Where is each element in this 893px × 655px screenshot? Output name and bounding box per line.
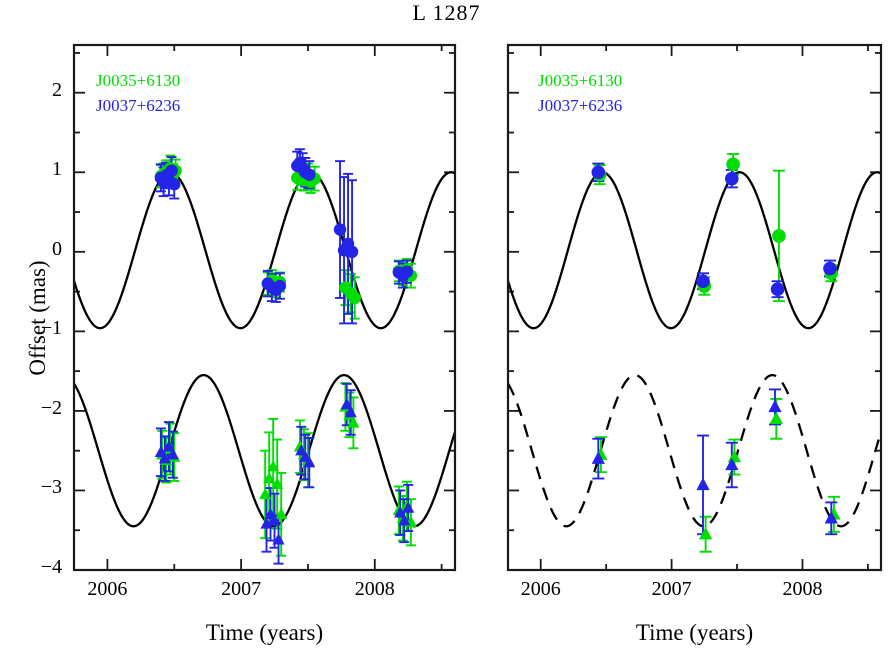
data-point-circle [726, 158, 740, 172]
data-point-circle [165, 164, 177, 176]
data-point-circle [696, 274, 710, 288]
x-tick-label: 2006 [67, 578, 147, 601]
y-tick-label: −4 [0, 556, 62, 579]
x-tick-label: 2007 [632, 578, 712, 601]
data-point-circle [274, 280, 286, 292]
upper-fit-curve-right-panel [508, 172, 881, 328]
data-point-circle [168, 178, 180, 190]
data-point-circle [303, 168, 315, 180]
plot-canvas [0, 0, 893, 655]
data-point-triangle [768, 400, 781, 412]
data-point-circle [725, 172, 739, 186]
data-point-circle [346, 246, 358, 258]
x-tick-label: 2007 [201, 578, 281, 601]
data-point-circle [349, 292, 361, 304]
y-tick-label: 2 [0, 79, 62, 102]
y-tick-label: −3 [0, 476, 62, 499]
x-tick-label: 2008 [762, 578, 842, 601]
data-point-triangle [699, 527, 712, 539]
data-point-circle [823, 262, 837, 276]
data-point-circle [592, 165, 606, 179]
y-tick-label: 0 [0, 238, 62, 261]
data-point-triangle [770, 412, 783, 424]
data-point-triangle [728, 450, 741, 462]
data-point-circle [334, 223, 346, 235]
lower-fit-curve-right-panel [508, 375, 881, 526]
x-tick-label: 2006 [501, 578, 581, 601]
figure-container: L 1287 Offset (mas) Time (years) Time (y… [0, 0, 893, 655]
data-point-circle [401, 266, 413, 278]
x-tick-label: 2008 [335, 578, 415, 601]
y-tick-label: 1 [0, 158, 62, 181]
y-tick-label: −2 [0, 397, 62, 420]
data-point-circle [771, 282, 785, 296]
data-point-triangle [696, 478, 709, 490]
y-tick-label: −1 [0, 317, 62, 340]
upper-fit-curve-left-panel [74, 172, 455, 328]
data-point-circle [772, 229, 786, 243]
